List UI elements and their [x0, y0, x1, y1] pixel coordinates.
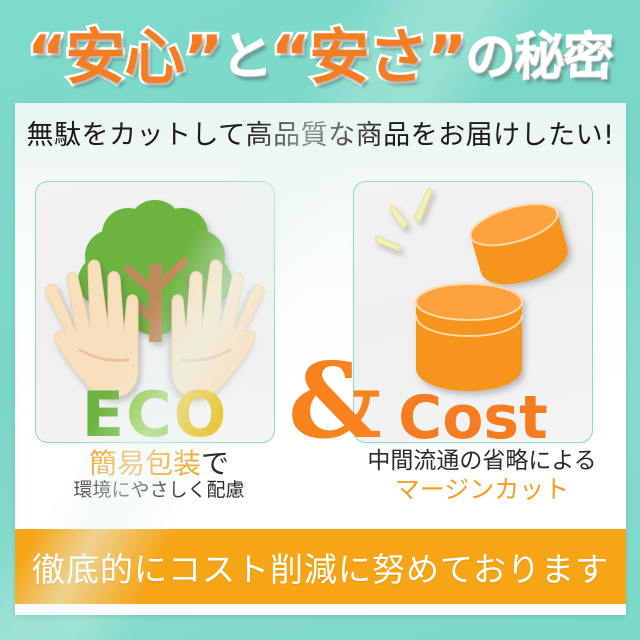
- eco-word: ECO: [36, 384, 274, 442]
- title-segment-himitsu: の秘密: [466, 17, 613, 89]
- caption-right-line2: マージンカット: [342, 476, 622, 504]
- bottom-banner: 徹底的にコスト削減に努めております: [15, 529, 626, 604]
- title-segment-anshin: “安心”: [27, 9, 222, 96]
- banner-text: 徹底的にコスト削減に努めております: [32, 543, 609, 591]
- title-segment-to: と: [222, 17, 271, 89]
- caption-left-line1: 簡易包装で: [19, 448, 299, 479]
- eco-letter-e: E: [82, 384, 126, 442]
- caption-left-rest: で: [201, 447, 229, 480]
- caption-left-highlight: 簡易包装: [89, 447, 201, 480]
- title-segment-yasusa: “安さ”: [271, 9, 466, 96]
- eco-letter-o: O: [174, 378, 229, 442]
- card-eco[interactable]: ECO: [35, 181, 275, 443]
- caption-left: 簡易包装で 環境にやさしく配慮: [19, 448, 299, 502]
- content-panel: 無駄をカットして高品質な商品をお届けしたい!: [15, 103, 626, 615]
- promo-graphic: “安心”と“安さ”の秘密 無駄をカットして高品質な商品をお届けしたい!: [0, 0, 640, 640]
- eco-letter-c: C: [126, 378, 174, 442]
- caption-left-line2: 環境にやさしく配慮: [19, 479, 299, 502]
- caption-right: 中間流通の省略による マージンカット: [342, 448, 622, 504]
- subtitle-text: 無駄をカットして高品質な商品をお届けしたい!: [15, 113, 626, 152]
- card-eco-inner: ECO: [36, 182, 274, 442]
- ampersand-separator: &: [277, 349, 393, 453]
- headline-title: “安心”と“安さ”の秘密: [0, 0, 640, 103]
